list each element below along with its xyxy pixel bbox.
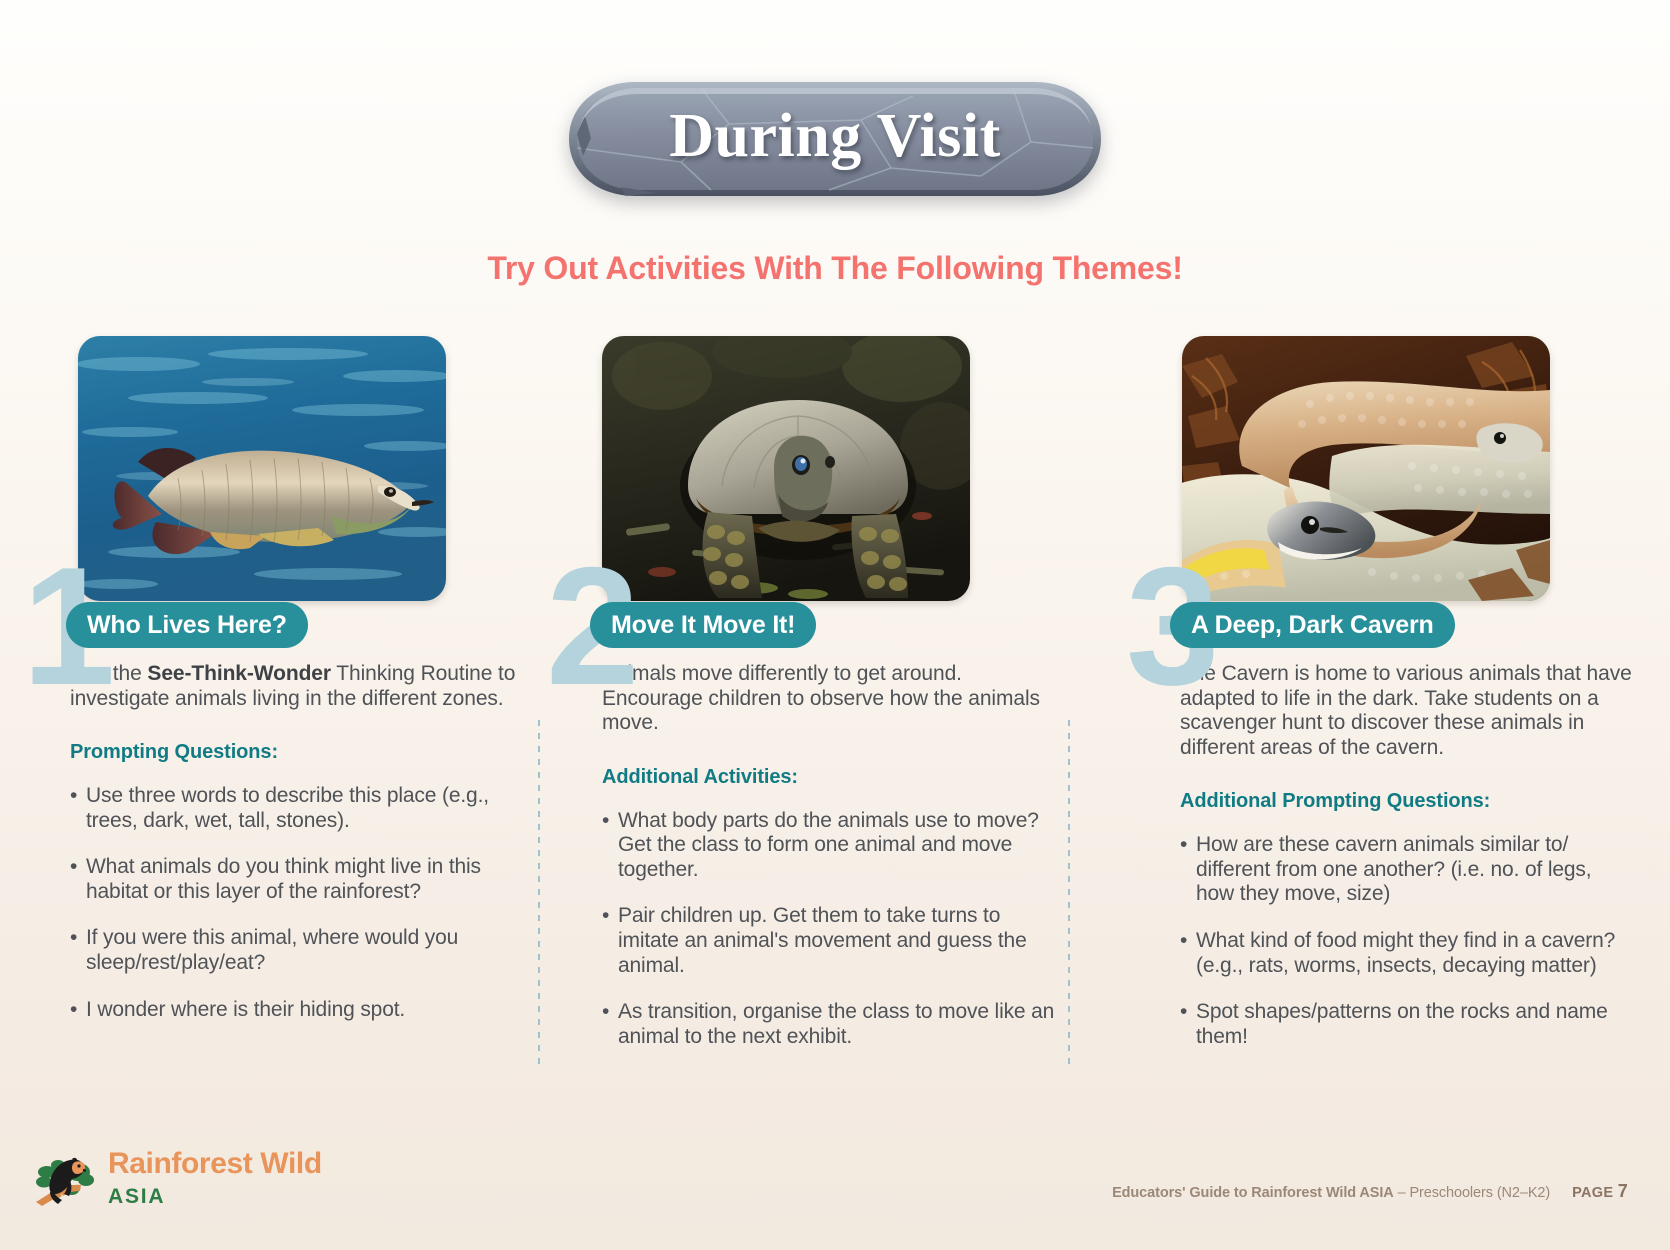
intro-bold: See-Think-Wonder — [147, 662, 331, 685]
page-title: During Visit — [561, 76, 1109, 202]
section-subtitle: Try Out Activities With The Following Th… — [0, 250, 1670, 287]
card-intro-1: Use the See-Think-Wonder Thinking Routin… — [70, 662, 525, 711]
list-item: How are these cavern animals similar to/… — [1180, 833, 1635, 907]
brand-wordmark: Rainforest Wild ASIA — [108, 1146, 322, 1207]
rainforest-bear-icon — [34, 1146, 96, 1208]
list-item: As transition, organise the class to mov… — [602, 1000, 1057, 1049]
footer-credit-rest: – Preschoolers (N2–K2) — [1394, 1185, 1550, 1201]
brand-name: Rainforest Wild — [108, 1149, 322, 1179]
card-intro-3: The Cavern is home to various animals th… — [1180, 662, 1635, 760]
card-title-2: Move It Move It! — [590, 602, 816, 648]
card-bullets-1: Use three words to describe this place (… — [70, 784, 525, 1022]
list-item: If you were this animal, where would you… — [70, 926, 525, 975]
activity-columns: 1 — [0, 330, 1670, 1090]
photo-tortoise — [602, 336, 970, 601]
list-item: What body parts do the animals use to mo… — [602, 809, 1057, 883]
list-item: What kind of food might they find in a c… — [1180, 929, 1635, 978]
stone-plaque: During Visit — [561, 76, 1109, 202]
footer-credit-title: Educators' Guide to Rainforest Wild ASIA — [1112, 1185, 1394, 1201]
list-item: Spot shapes/patterns on the rocks and na… — [1180, 1000, 1635, 1049]
card-body-3: The Cavern is home to various animals th… — [1180, 662, 1635, 1071]
card-body-2: Animals move differently to get around. … — [602, 662, 1057, 1071]
footer-credit: Educators' Guide to Rainforest Wild ASIA… — [1112, 1185, 1550, 1201]
footer-meta: Educators' Guide to Rainforest Wild ASIA… — [1112, 1181, 1628, 1202]
list-item: Pair children up. Get them to take turns… — [602, 904, 1057, 978]
card-body-1: Use the See-Think-Wonder Thinking Routin… — [70, 662, 525, 1044]
photo-arowana — [78, 336, 446, 601]
list-item: I wonder where is their hiding spot. — [70, 998, 525, 1023]
card-intro-2: Animals move differently to get around. … — [602, 662, 1057, 736]
brand-region: ASIA — [108, 1186, 322, 1207]
card-subhead-1: Prompting Questions: — [70, 741, 525, 764]
card-title-3: A Deep, Dark Cavern — [1170, 602, 1455, 648]
card-subhead-3: Additional Prompting Questions: — [1180, 790, 1635, 813]
page-label: PAGE — [1572, 1185, 1613, 1201]
activity-card-2: 2 — [532, 330, 1062, 1090]
page-indicator: PAGE 7 — [1572, 1181, 1628, 1202]
card-bullets-3: How are these cavern animals similar to/… — [1180, 833, 1635, 1049]
card-bullets-2: What body parts do the animals use to mo… — [602, 809, 1057, 1050]
activity-card-1: 1 — [8, 330, 538, 1090]
list-item: Use three words to describe this place (… — [70, 784, 525, 833]
card-subhead-2: Additional Activities: — [602, 766, 1057, 789]
card-title-1: Who Lives Here? — [66, 602, 308, 648]
page-number: 7 — [1618, 1181, 1628, 1201]
activity-card-3: 3 — [1060, 330, 1590, 1090]
brand-logo: Rainforest Wild ASIA — [34, 1146, 322, 1208]
photo-snakes — [1182, 336, 1550, 601]
list-item: What animals do you think might live in … — [70, 855, 525, 904]
title-banner: During Visit — [0, 76, 1670, 202]
